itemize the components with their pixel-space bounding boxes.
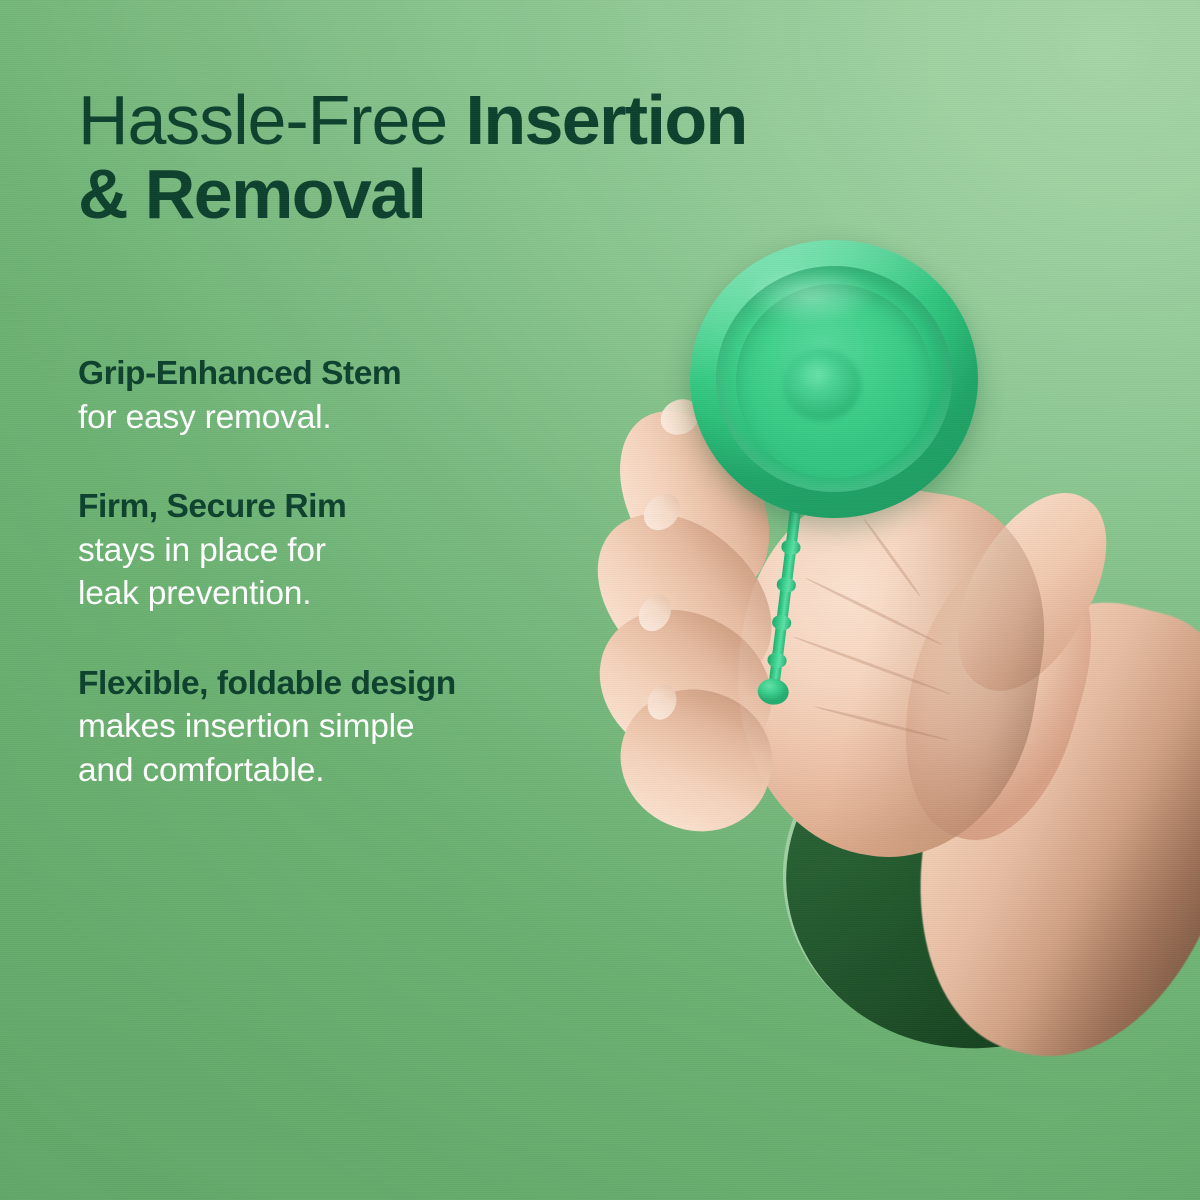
feature-body: makes insertion simple xyxy=(78,705,678,749)
page-title: Hassle-Free Insertion& Removal xyxy=(78,84,698,232)
feature-item-stem: Grip-Enhanced Stem for easy removal. xyxy=(78,352,678,439)
feature-title: Grip-Enhanced Stem xyxy=(78,352,678,396)
feature-body: for easy removal. xyxy=(78,396,678,440)
feature-body: leak prevention. xyxy=(78,572,678,616)
headline-line-two: & Removal xyxy=(78,158,698,232)
feature-item-rim: Firm, Secure Rim stays in place for leak… xyxy=(78,485,678,616)
feature-item-foldable: Flexible, foldable design makes insertio… xyxy=(78,662,678,793)
feature-list: Grip-Enhanced Stem for easy removal. Fir… xyxy=(78,352,678,792)
headline-light-part: Hassle-Free xyxy=(78,81,465,159)
feature-title: Firm, Secure Rim xyxy=(78,485,678,529)
cup-center-dimple xyxy=(783,349,861,421)
feature-body: and comfortable. xyxy=(78,749,678,793)
cup-specular-highlight xyxy=(744,266,876,324)
feature-body: stays in place for xyxy=(78,529,678,573)
promo-image-canvas: Hassle-Free Insertion& Removal Grip-Enha… xyxy=(0,0,1200,1200)
headline-bold-part: Insertion xyxy=(465,81,746,159)
headline-block: Hassle-Free Insertion& Removal xyxy=(78,84,698,232)
feature-title: Flexible, foldable design xyxy=(78,662,678,706)
menstrual-cup xyxy=(690,240,978,518)
